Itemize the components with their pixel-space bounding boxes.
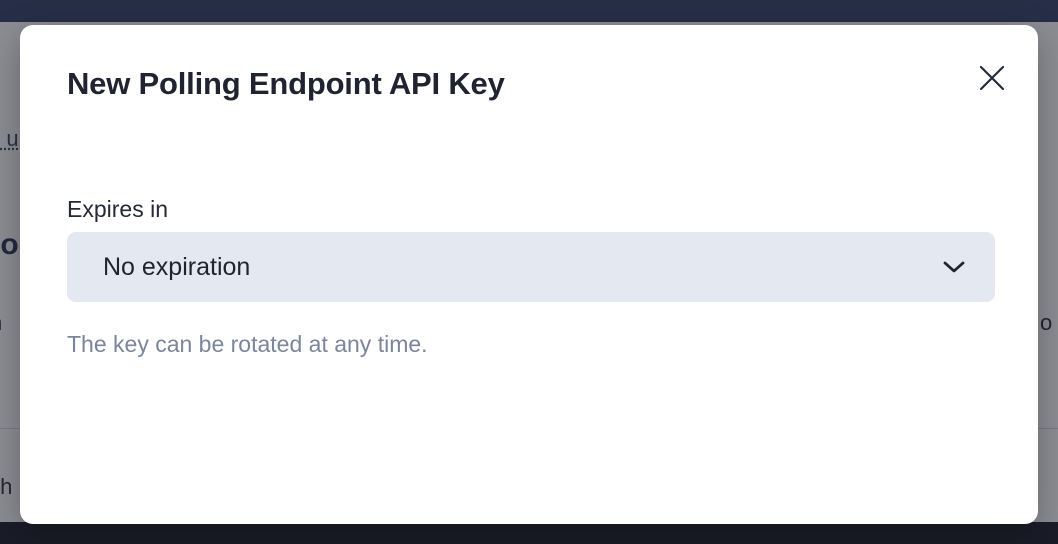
dialog-footer: Create xyxy=(20,404,1038,524)
expires-in-selected-value: No expiration xyxy=(67,255,943,280)
screen: o u oo h th o New Polling Endpoint API K… xyxy=(0,0,1058,544)
chevron-down-icon xyxy=(943,260,995,274)
new-api-key-dialog: New Polling Endpoint API Key Expires in … xyxy=(20,25,1038,524)
expires-in-label: Expires in xyxy=(67,197,168,222)
expires-in-hint: The key can be rotated at any time. xyxy=(67,331,428,359)
close-icon xyxy=(979,65,1005,91)
close-button[interactable] xyxy=(970,56,1014,100)
expires-in-select[interactable]: No expiration xyxy=(67,232,995,302)
dialog-title: New Polling Endpoint API Key xyxy=(67,65,505,102)
